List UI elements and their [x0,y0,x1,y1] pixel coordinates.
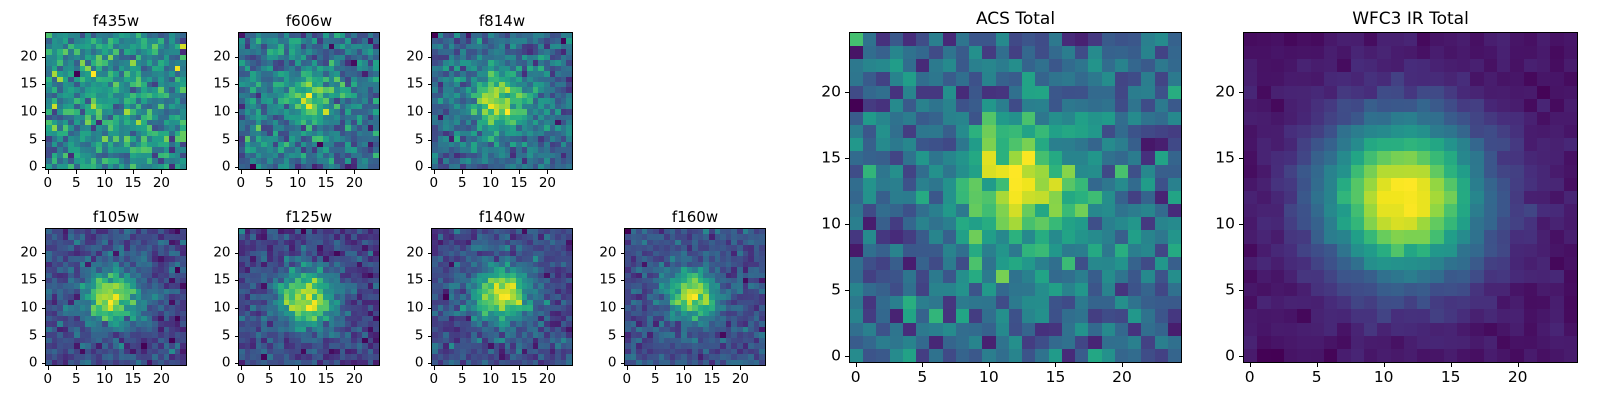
x-axis-tick-label: 15 [124,373,141,387]
x-axis-tick-label: 0 [1245,370,1255,386]
y-axis-tick [428,280,432,281]
y-axis-tick [235,167,239,168]
y-axis-tick-label: 15 [370,78,424,92]
panel-title-acs-total: ACS Total [976,11,1055,28]
x-axis-tick [76,366,77,370]
y-axis-tick-label: 15 [563,274,617,288]
x-axis-tick-label: 0 [430,177,439,191]
y-axis-tick [42,308,46,309]
x-axis-tick [298,366,299,370]
x-axis-tick-label: 15 [1046,370,1066,386]
x-axis-tick [1055,363,1056,367]
x-axis-tick-label: 0 [237,177,246,191]
x-axis-tick-label: 10 [289,177,306,191]
y-axis-tick [235,140,239,141]
x-axis-tick [1317,363,1318,367]
x-axis-tick-label: 5 [1312,370,1322,386]
x-axis-tick-label: 5 [72,373,81,387]
y-axis-tick [845,158,849,159]
y-axis-tick [1239,290,1243,291]
x-axis-tick [48,170,49,174]
y-axis-tick-label: 0 [177,356,231,370]
x-axis-tick [547,170,548,174]
x-axis-tick-label: 20 [346,373,363,387]
y-axis-tick-label: 10 [563,301,617,315]
x-axis-tick-label: 20 [539,373,556,387]
axes-f140w [431,228,573,366]
heatmap-wfc3-ir-total [1244,33,1577,362]
panel-title-f435w: f435w [93,14,139,29]
y-axis-tick-label: 15 [1181,150,1235,166]
x-axis-tick-label: 5 [458,373,467,387]
y-axis-tick [235,336,239,337]
y-axis-tick-label: 5 [787,282,841,298]
x-axis-tick-label: 10 [675,373,692,387]
y-axis-tick-label: 10 [787,216,841,232]
y-axis-tick-label: 5 [1181,282,1235,298]
panel-f435w: f435w0510152005101520 [0,6,193,196]
y-axis-tick [428,167,432,168]
x-axis-tick-label: 5 [917,370,927,386]
y-axis-tick [1239,224,1243,225]
x-axis-tick [76,170,77,174]
x-axis-tick-label: 20 [539,177,556,191]
x-axis-tick [1384,363,1385,367]
x-axis-tick [269,170,270,174]
y-axis-tick-label: 20 [563,246,617,260]
x-axis-tick [161,170,162,174]
x-axis-tick [133,170,134,174]
y-axis-tick-label: 0 [1181,349,1235,365]
x-axis-tick [326,170,327,174]
y-axis-tick-label: 15 [787,150,841,166]
y-axis-tick-label: 10 [177,105,231,119]
axes-acs-total [849,32,1182,363]
axes-f435w [45,32,187,170]
panel-title-f105w: f105w [93,210,139,225]
y-axis-tick [428,336,432,337]
x-axis-tick-label: 5 [265,177,274,191]
y-axis-tick [621,336,625,337]
y-axis-tick [235,308,239,309]
x-axis-tick [269,366,270,370]
x-axis-tick-label: 0 [237,373,246,387]
x-axis-tick [354,366,355,370]
y-axis-tick-label: 20 [1181,84,1235,100]
y-axis-tick [428,363,432,364]
y-axis-tick-label: 10 [0,301,38,315]
x-axis-tick [989,363,990,367]
x-axis-tick [1250,363,1251,367]
heatmap-f140w [432,229,572,365]
x-axis-tick-label: 10 [96,373,113,387]
y-axis-tick [428,140,432,141]
panel-title-f125w: f125w [286,210,332,225]
y-axis-tick-label: 0 [787,349,841,365]
y-axis-tick [428,253,432,254]
y-axis-tick-label: 5 [0,133,38,147]
x-axis-tick-label: 5 [72,177,81,191]
x-axis-tick-label: 10 [482,373,499,387]
y-axis-tick [42,363,46,364]
x-axis-tick-label: 0 [44,177,53,191]
y-axis-tick-label: 10 [370,105,424,119]
x-axis-tick-label: 10 [96,177,113,191]
y-axis-tick-label: 15 [177,78,231,92]
y-axis-tick [235,57,239,58]
heatmap-f160w [625,229,765,365]
y-axis-tick [235,280,239,281]
x-axis-tick [298,170,299,174]
y-axis-tick [845,92,849,93]
y-axis-tick-label: 5 [370,133,424,147]
y-axis-tick [42,167,46,168]
x-axis-tick-label: 0 [430,373,439,387]
y-axis-tick-label: 0 [177,160,231,174]
y-axis-tick-label: 15 [0,274,38,288]
y-axis-tick [621,363,625,364]
axes-f125w [238,228,380,366]
x-axis-tick [1122,363,1123,367]
panel-title-f814w: f814w [479,14,525,29]
x-axis-tick-label: 15 [317,177,334,191]
x-axis-tick [519,366,520,370]
x-axis-tick-label: 15 [1441,370,1461,386]
x-axis-tick [161,366,162,370]
y-axis-tick-label: 0 [563,356,617,370]
y-axis-tick-label: 10 [1181,216,1235,232]
x-axis-tick [434,170,435,174]
x-axis-tick [547,366,548,370]
y-axis-tick [428,84,432,85]
panel-title-f160w: f160w [672,210,718,225]
heatmap-acs-total [850,33,1181,362]
x-axis-tick [684,366,685,370]
panel-title-f140w: f140w [479,210,525,225]
y-axis-tick [42,84,46,85]
y-axis-tick-label: 10 [370,301,424,315]
x-axis-tick [740,366,741,370]
x-axis-tick-label: 0 [851,370,861,386]
axes-wfc3-ir-total [1243,32,1578,363]
x-axis-tick-label: 15 [317,373,334,387]
y-axis-tick-label: 15 [370,274,424,288]
y-axis-tick [42,336,46,337]
heatmap-f105w [46,229,186,365]
y-axis-tick [42,253,46,254]
y-axis-tick [42,112,46,113]
x-axis-tick-label: 10 [289,373,306,387]
x-axis-tick [105,366,106,370]
y-axis-tick-label: 20 [787,84,841,100]
y-axis-tick [235,363,239,364]
y-axis-tick-label: 20 [370,50,424,64]
x-axis-tick [48,366,49,370]
y-axis-tick-label: 5 [370,329,424,343]
x-axis-tick [462,366,463,370]
y-axis-tick-label: 10 [0,105,38,119]
y-axis-tick-label: 20 [370,246,424,260]
axes-f606w [238,32,380,170]
y-axis-tick [1239,158,1243,159]
y-axis-tick [235,112,239,113]
x-axis-tick-label: 0 [44,373,53,387]
y-axis-tick-label: 0 [370,356,424,370]
x-axis-tick [105,170,106,174]
x-axis-tick-label: 10 [482,177,499,191]
y-axis-tick-label: 20 [177,50,231,64]
y-axis-tick [1239,92,1243,93]
y-axis-tick [621,280,625,281]
y-axis-tick-label: 15 [177,274,231,288]
x-axis-tick [519,170,520,174]
y-axis-tick-label: 10 [177,301,231,315]
x-axis-tick-label: 20 [153,177,170,191]
x-axis-tick-label: 5 [265,373,274,387]
y-axis-tick-label: 5 [177,133,231,147]
heatmap-f125w [239,229,379,365]
panel-title-f606w: f606w [286,14,332,29]
x-axis-tick [856,363,857,367]
panel-f606w: f606w0510152005101520 [176,6,386,196]
heatmap-f814w [432,33,572,169]
y-axis-tick [42,57,46,58]
x-axis-tick [354,170,355,174]
figure-canvas: f435w0510152005101520f606w05101520051015… [0,0,1600,400]
y-axis-tick [621,253,625,254]
y-axis-tick [428,57,432,58]
y-axis-tick-label: 0 [370,160,424,174]
y-axis-tick [845,290,849,291]
heatmap-f435w [46,33,186,169]
y-axis-tick [845,356,849,357]
y-axis-tick-label: 20 [0,246,38,260]
y-axis-tick-label: 5 [563,329,617,343]
x-axis-tick-label: 5 [651,373,660,387]
y-axis-tick-label: 20 [0,50,38,64]
x-axis-tick [1518,363,1519,367]
axes-f160w [624,228,766,366]
y-axis-tick-label: 0 [0,160,38,174]
y-axis-tick [845,224,849,225]
x-axis-tick-label: 10 [979,370,999,386]
panel-f105w: f105w0510152005101520 [0,202,193,392]
x-axis-tick-label: 20 [1508,370,1528,386]
x-axis-tick-label: 15 [510,177,527,191]
panel-f125w: f125w0510152005101520 [176,202,386,392]
y-axis-tick [428,112,432,113]
x-axis-tick-label: 20 [153,373,170,387]
x-axis-tick-label: 0 [623,373,632,387]
x-axis-tick-label: 15 [510,373,527,387]
x-axis-tick [133,366,134,370]
y-axis-tick-label: 0 [0,356,38,370]
heatmap-f606w [239,33,379,169]
y-axis-tick [42,140,46,141]
x-axis-tick-label: 15 [703,373,720,387]
x-axis-tick [491,170,492,174]
axes-f105w [45,228,187,366]
x-axis-tick-label: 20 [732,373,749,387]
x-axis-tick [655,366,656,370]
y-axis-tick [235,84,239,85]
panel-f160w: f160w0510152005101520 [562,202,772,392]
x-axis-tick [922,363,923,367]
axes-f814w [431,32,573,170]
y-axis-tick [621,308,625,309]
x-axis-tick-label: 20 [1112,370,1132,386]
x-axis-tick [462,170,463,174]
x-axis-tick [627,366,628,370]
y-axis-tick-label: 20 [177,246,231,260]
panel-f814w: f814w0510152005101520 [369,6,579,196]
panel-title-wfc3-ir-total: WFC3 IR Total [1352,11,1469,28]
y-axis-tick [1239,356,1243,357]
y-axis-tick [428,308,432,309]
x-axis-tick [241,170,242,174]
y-axis-tick [235,253,239,254]
panel-f140w: f140w0510152005101520 [369,202,579,392]
x-axis-tick [712,366,713,370]
y-axis-tick-label: 15 [0,78,38,92]
x-axis-tick-label: 5 [458,177,467,191]
x-axis-tick [434,366,435,370]
x-axis-tick-label: 20 [346,177,363,191]
x-axis-tick [491,366,492,370]
y-axis-tick-label: 5 [177,329,231,343]
x-axis-tick-label: 15 [124,177,141,191]
panel-acs-total: ACS Total0510152005101520 [787,6,1188,389]
y-axis-tick [42,280,46,281]
x-axis-tick [241,366,242,370]
x-axis-tick [326,366,327,370]
panel-wfc3-ir-total: WFC3 IR Total0510152005101520 [1181,6,1584,389]
y-axis-tick-label: 5 [0,329,38,343]
x-axis-tick-label: 10 [1374,370,1394,386]
x-axis-tick [1451,363,1452,367]
